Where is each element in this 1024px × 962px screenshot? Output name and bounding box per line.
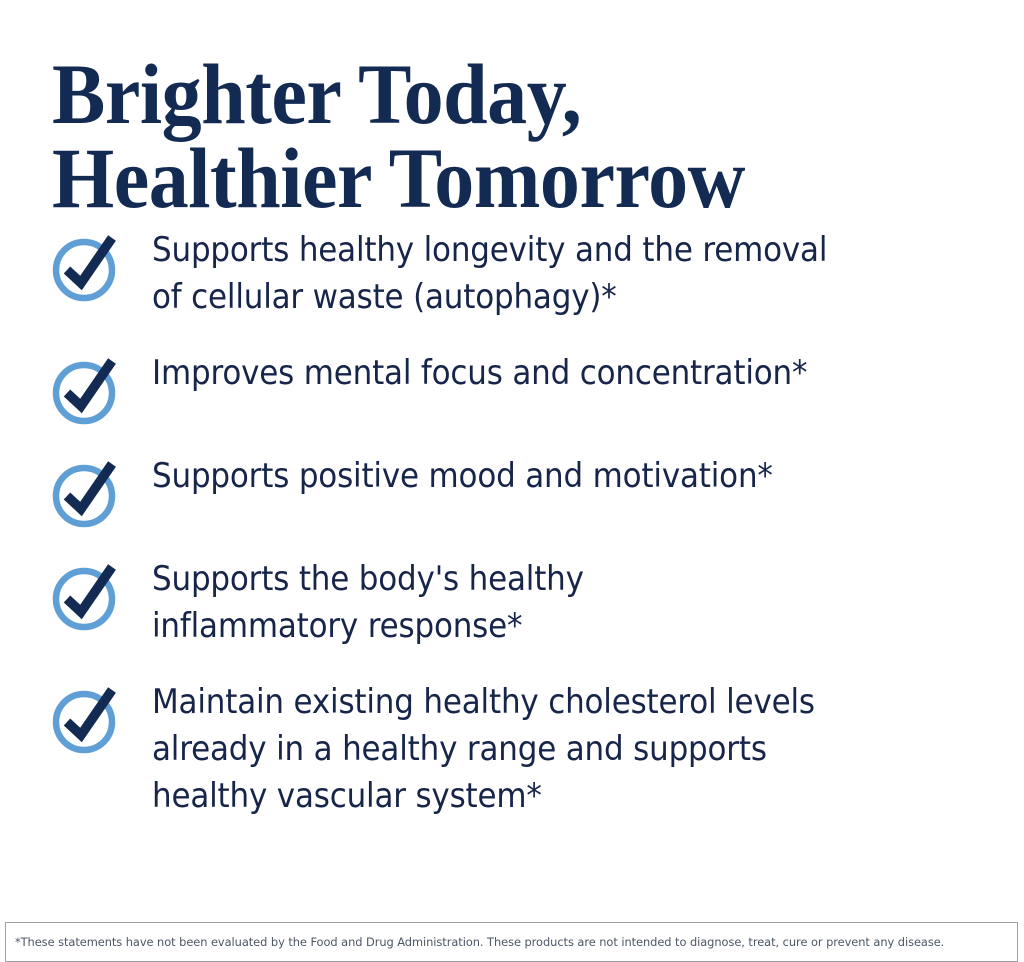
list-item-label: Supports positive mood and motivation*	[152, 448, 773, 499]
check-circle-icon	[52, 458, 120, 526]
check-circle-icon	[52, 232, 120, 300]
disclaimer-text: *These statements have not been evaluate…	[15, 935, 944, 949]
check-circle-icon	[52, 355, 120, 423]
benefits-list: Supports healthy longevity and the remov…	[52, 222, 982, 844]
check-circle-icon	[52, 561, 120, 629]
list-item-label: Supports the body's healthy inflammatory…	[152, 551, 584, 649]
list-item: Supports positive mood and motivation*	[52, 448, 982, 526]
list-item-label: Improves mental focus and concentration*	[152, 345, 807, 396]
list-item: Supports healthy longevity and the remov…	[52, 222, 982, 320]
list-item: Improves mental focus and concentration*	[52, 345, 982, 423]
disclaimer-box: *These statements have not been evaluate…	[5, 922, 1018, 962]
list-item: Maintain existing healthy cholesterol le…	[52, 674, 982, 819]
list-item-label: Maintain existing healthy cholesterol le…	[152, 674, 815, 819]
promo-panel: Brighter Today, Healthier Tomorrow Suppo…	[0, 0, 1024, 950]
list-item: Supports the body's healthy inflammatory…	[52, 551, 982, 649]
check-circle-icon	[52, 684, 120, 752]
page-title: Brighter Today, Healthier Tomorrow	[52, 52, 889, 221]
list-item-label: Supports healthy longevity and the remov…	[152, 222, 827, 320]
